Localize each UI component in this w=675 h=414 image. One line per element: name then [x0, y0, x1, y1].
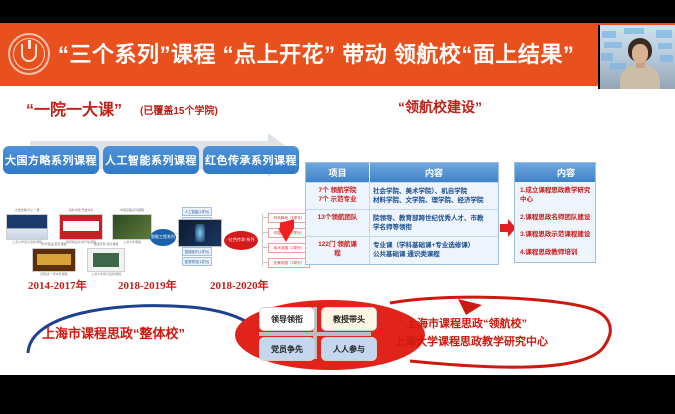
list-item: 2.课程思政名师团队建设 [515, 209, 595, 227]
quad-box-dangyuanzhengxian[interactable]: 党员争先 [259, 337, 315, 361]
subheading-left: “一院一大课” [26, 96, 122, 120]
poster-caption: 时代音画 美育课程 [33, 242, 75, 248]
page-title: “三个系列”课程 “点上开花” 带动 领航校“面上结果” [58, 35, 598, 75]
mindmap-leaf: 智能医疗(1学分) [182, 247, 212, 256]
bottom-left-label: 上海市课程思政“整体校” [42, 323, 185, 342]
subheading-right: “领航校建设” [398, 97, 482, 117]
ai-course-thumbnail [178, 219, 222, 247]
list-item: 3.课程思政示范课程建设 [515, 226, 595, 244]
course-poster-5: 经国济民 通识课程 上海大学通识选修课程 [87, 248, 125, 272]
year-label-3: 2018-2020年 [210, 277, 269, 293]
slide-header-band: “三个系列”课程 “点上开花” 带动 领航校“面上结果” [0, 23, 675, 86]
red-arrow-down-icon [278, 219, 302, 249]
cell-content: 社会学院、美术学院）、机自学院 材料学院、文学院、理学院、经济学院 [370, 183, 498, 209]
mindmap-hub-label: “红色传承”系列 [224, 231, 258, 250]
table-header-row: 内容 [515, 163, 595, 182]
course-poster-2: 创新中国 开放共享 国家精品在线开放课程 [59, 214, 103, 240]
cell-item: 122门 领航课 程 [306, 237, 370, 263]
subheading-left-note: (已覆盖15个学院) [140, 102, 218, 117]
university-logo-icon [6, 31, 52, 77]
cell-content: 院领导、教育部跨世纪优秀人才、市教 学名师等领衔 [370, 210, 498, 236]
bottom-right-label-1: 上海市课程思政“领航校” [406, 315, 527, 331]
mindmap-hub-label: 智能工程系列 [150, 229, 176, 246]
cell-item: 13个领航团队 [306, 210, 370, 236]
course-poster-thumbnails: 大国方略 同上一课 上海大学通识选修课程 创新中国 开放共享 国家精品在线开放课… [2, 205, 152, 271]
series-box-daguofanglue[interactable]: 大国方略系列课程 [3, 146, 99, 174]
poster-caption: 中国道路系列课程 [113, 208, 151, 214]
webcam-video-overlay[interactable] [600, 25, 675, 89]
course-poster-3: 中国道路系列课程 上海大学课程 [112, 214, 152, 240]
slide-canvas: “三个系列”课程 “点上开花” 带动 领航校“面上结果” “一院一大课” (已覆… [0, 23, 675, 375]
year-label-2: 2018-2019年 [118, 277, 177, 293]
course-poster-1: 大国方略 同上一课 上海大学通识选修课程 [6, 214, 48, 240]
series-box-hongsechuancheng[interactable]: 红色传承系列课程 [203, 146, 299, 174]
bottom-right-label-2: 上海大学课程思政教学研究中心 [394, 333, 548, 349]
column-header-content: 内容 [370, 163, 498, 182]
bottom-diagram: 领导领衔 教授带头 党员争先 人人参与 上海市课程思政“整体校” 上海市课程思政… [0, 295, 675, 375]
table-row: 13个领航团队 院领导、教育部跨世纪优秀人才、市教 学名师等领衔 [306, 209, 498, 236]
table-row: 122门 领航课 程 专业课（学科基础课+专业选修课） 公共基础课 通识类课程 [306, 236, 498, 263]
mindmap-leaf: 光荣中国（2学分） [268, 258, 310, 268]
mindmap-leaf: 智慧物流(1学分) [182, 257, 212, 266]
quad-box-jiaoshoudaitou[interactable]: 教授带头 [321, 307, 377, 331]
cell-item: 7个 领航学院 7个 示范专业 [306, 183, 370, 209]
list-item: 4.课程思政教师培训 [515, 244, 595, 262]
quad-box-renrencanyu[interactable]: 人人参与 [321, 337, 377, 361]
table-lingxiang-overview: 项目 内容 7个 领航学院 7个 示范专业 社会学院、美术学院）、机自学院 材料… [305, 162, 499, 265]
cell-content: 专业课（学科基础课+专业选修课） 公共基础课 通识类课程 [370, 237, 498, 263]
column-header-item: 项目 [306, 163, 370, 182]
poster-caption: 创新中国 开放共享 [60, 208, 102, 214]
table-row: 7个 领航学院 7个 示范专业 社会学院、美术学院）、机自学院 材料学院、文学院… [306, 182, 498, 209]
table-header-row: 项目 内容 [306, 163, 498, 182]
mindmap-leaf: 人工智能(1学分) [182, 207, 212, 216]
column-header-content: 内容 [537, 163, 595, 182]
screen: “三个系列”课程 “点上开花” 带动 领航校“面上结果” “一院一大课” (已覆… [0, 0, 675, 414]
poster-caption: 经国济民 通识课程 [88, 242, 124, 248]
quad-box-lingdaolingxian[interactable]: 领导领衔 [259, 307, 315, 331]
poster-caption: 大国方略 同上一课 [7, 208, 47, 214]
list-item: 1.成立课程思政教学研究中心 [515, 182, 595, 209]
year-label-1: 2014-2017年 [28, 277, 87, 293]
series-box-rengongzhineng[interactable]: 人工智能系列课程 [103, 146, 199, 174]
course-poster-4: 时代音画 美育课程 国家级一流本科课程 [32, 248, 76, 272]
table-lingxiang-construction: 内容 1.成立课程思政教学研究中心 2.课程思政名师团队建设 3.课程思政示范课… [514, 162, 596, 263]
